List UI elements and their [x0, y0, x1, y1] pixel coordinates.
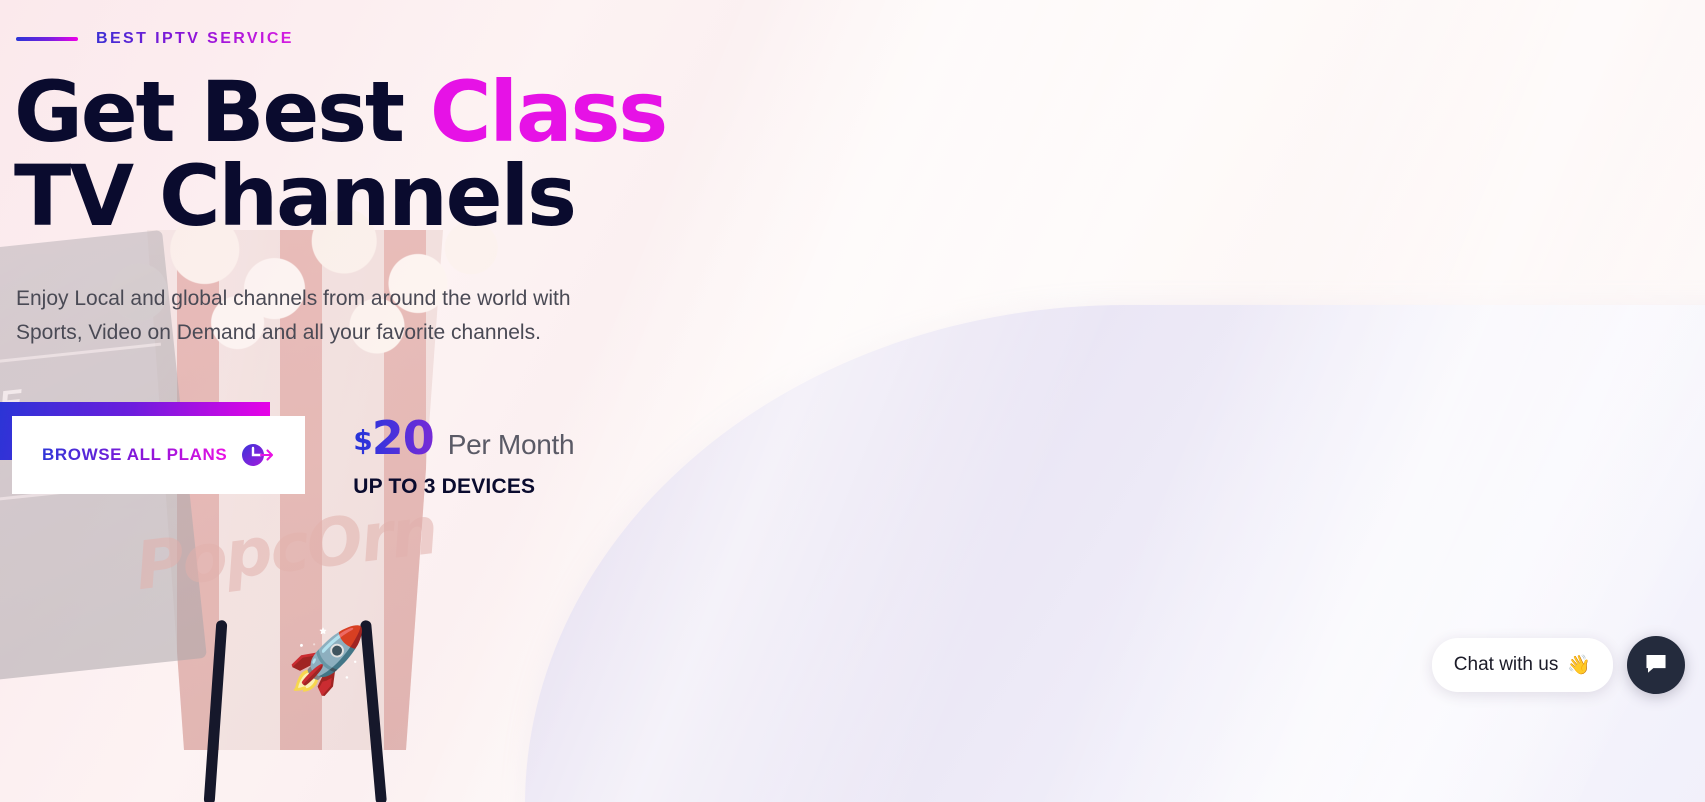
- price-period: Per Month: [448, 429, 574, 461]
- chat-pill-label: Chat with us: [1454, 654, 1559, 676]
- headline-part-2: TV Channels: [14, 147, 575, 245]
- price-value: 20: [372, 411, 434, 465]
- hero-actions: BROWSE ALL PLANS: [12, 411, 900, 499]
- straw-left: [204, 620, 228, 802]
- browse-all-plans-button[interactable]: BROWSE ALL PLANS: [12, 416, 305, 494]
- rocket-icon: 🚀: [287, 628, 367, 692]
- eyebrow-divider-line: [16, 37, 78, 41]
- hero-content: BEST IPTV SERVICE Get Best Class TV Chan…: [0, 0, 900, 499]
- chat-widget: Chat with us 👋: [1432, 636, 1685, 694]
- cta-label: BROWSE ALL PLANS: [42, 445, 227, 465]
- cta-content: BROWSE ALL PLANS: [42, 442, 275, 468]
- chat-with-us-button[interactable]: Chat with us 👋: [1432, 638, 1613, 692]
- price-currency-symbol: $: [353, 424, 371, 457]
- eyebrow-label: BEST IPTV SERVICE: [96, 30, 294, 48]
- chat-bubble-icon: [1643, 650, 1669, 681]
- price-device-note: UP TO 3 DEVICES: [353, 475, 574, 499]
- hero-section: KE PopcOrn 🚀 BEST IPTV SERVICE Get Best …: [0, 0, 1705, 802]
- eyebrow: BEST IPTV SERVICE: [16, 30, 900, 48]
- open-chat-button[interactable]: [1627, 636, 1685, 694]
- page-title: Get Best Class TV Channels: [14, 70, 774, 238]
- price-amount: $20: [353, 411, 434, 465]
- price-line: $20 Per Month: [353, 411, 574, 465]
- hero-subtitle: Enjoy Local and global channels from aro…: [16, 282, 596, 349]
- waving-hand-icon: 👋: [1567, 653, 1591, 677]
- circle-arrow-right-icon: [241, 442, 275, 468]
- price-block: $20 Per Month UP TO 3 DEVICES: [353, 411, 574, 499]
- popcorn-label-text: PopcOrn: [131, 492, 440, 605]
